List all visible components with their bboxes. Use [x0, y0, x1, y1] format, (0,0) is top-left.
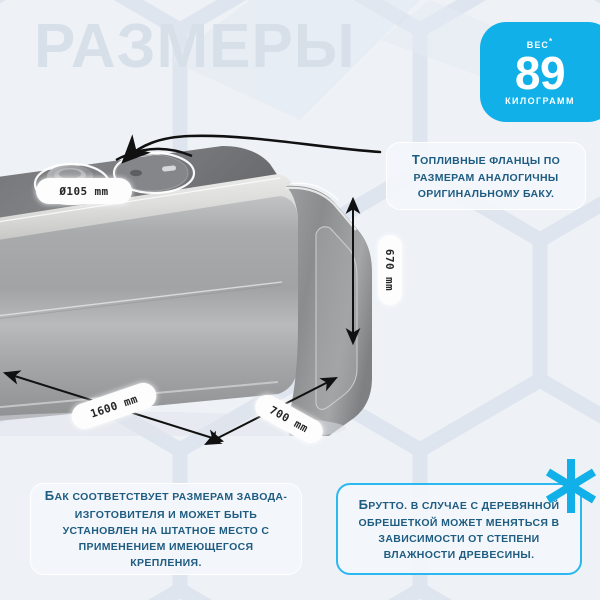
page-title: РАЗМЕРЫ [34, 16, 356, 78]
poster-canvas: РАЗМЕРЫ ВЕС* 89 КИЛОГРАММ [0, 0, 600, 600]
weight-badge: ВЕС* 89 КИЛОГРАММ [480, 22, 600, 122]
fuel-tank-illustration [0, 126, 406, 436]
dimension-label-height: 670 mm [378, 235, 402, 305]
callout-flanges: Топливные Фланцы по размерам аналогичны … [386, 142, 586, 210]
callout-factory-dimensions: Бак соответствует размерам завода-изгото… [30, 483, 302, 575]
weight-badge-unit: КИЛОГРАММ [505, 97, 575, 106]
callout-factory-text: Бак соответствует размерам завода-изгото… [43, 486, 289, 571]
weight-badge-value: 89 [515, 51, 565, 95]
callout-gross-text: Брутто. В случае с деревянной обрешеткой… [350, 495, 568, 564]
weight-badge-asterisk: * [549, 37, 553, 46]
asterisk-icon [540, 455, 600, 517]
callout-flanges-text: Топливные Фланцы по размерам аналогичны … [399, 150, 573, 203]
dimension-label-diameter: Ø105 mm [36, 178, 132, 204]
